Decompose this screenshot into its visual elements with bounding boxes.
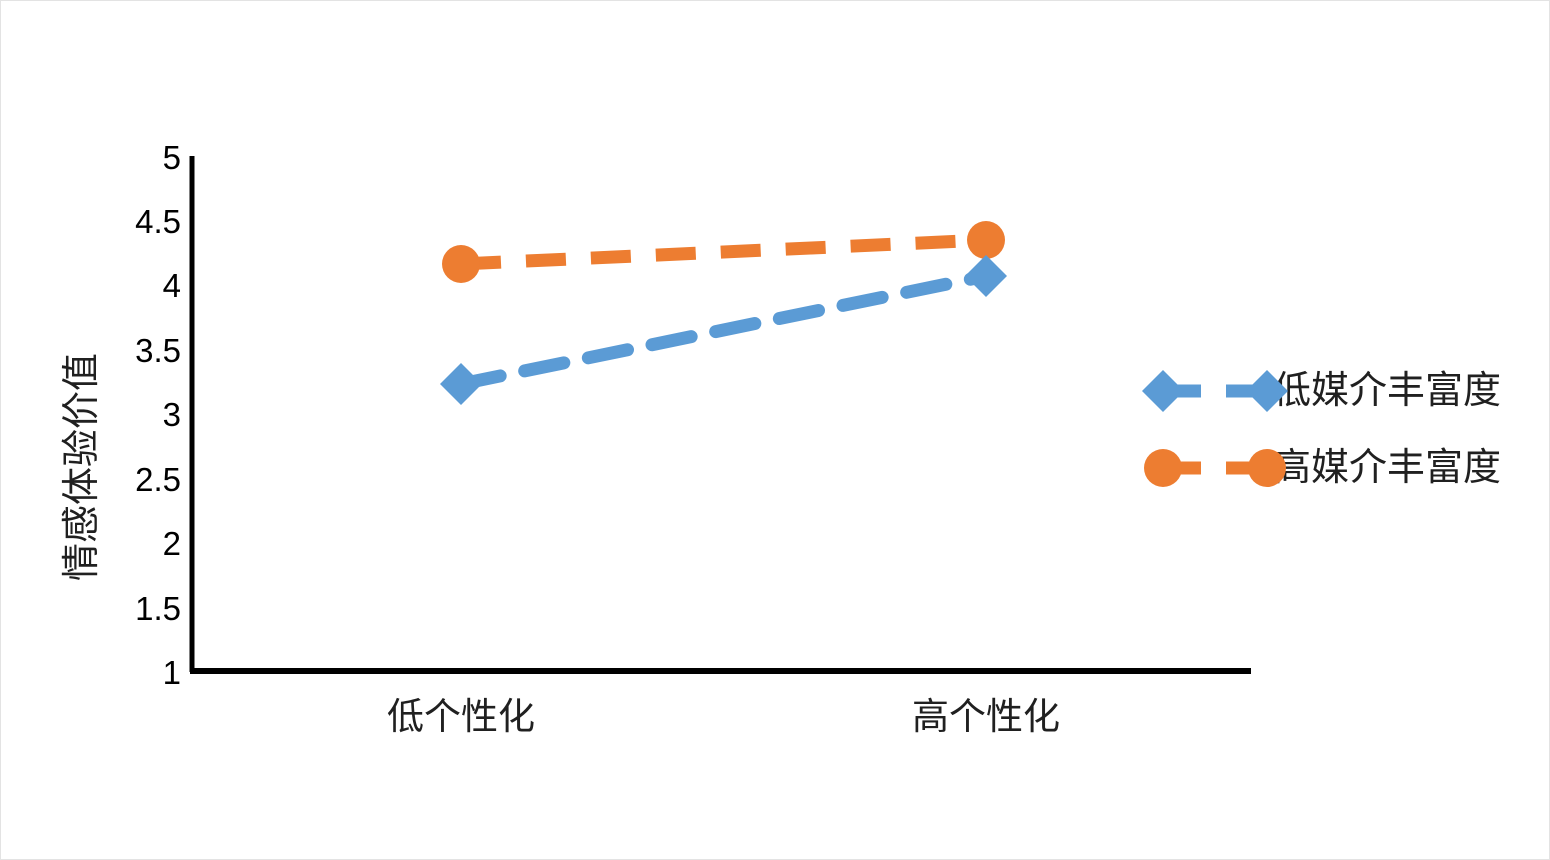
data-point-blue-low — [440, 363, 482, 405]
legend-marker-diamond-right — [1246, 370, 1288, 412]
series-line-orange — [461, 240, 986, 264]
plot-area — [1, 1, 1550, 860]
chart-canvas: 情感体验价值 5 4.5 4 3.5 3 2.5 2 1.5 1 低个性化 高个… — [0, 0, 1550, 860]
data-point-blue-high — [965, 255, 1007, 297]
legend-sample-high-media-richness — [1144, 449, 1286, 487]
series-line-blue — [461, 276, 986, 384]
legend-marker-circle-left — [1144, 449, 1182, 487]
data-point-orange-low — [442, 245, 480, 283]
series-low-media-richness — [440, 255, 1007, 405]
legend-marker-circle-right — [1248, 449, 1286, 487]
series-high-media-richness — [442, 221, 1005, 283]
legend-marker-diamond-left — [1142, 370, 1184, 412]
data-point-orange-high — [967, 221, 1005, 259]
legend-sample-low-media-richness — [1142, 370, 1288, 412]
